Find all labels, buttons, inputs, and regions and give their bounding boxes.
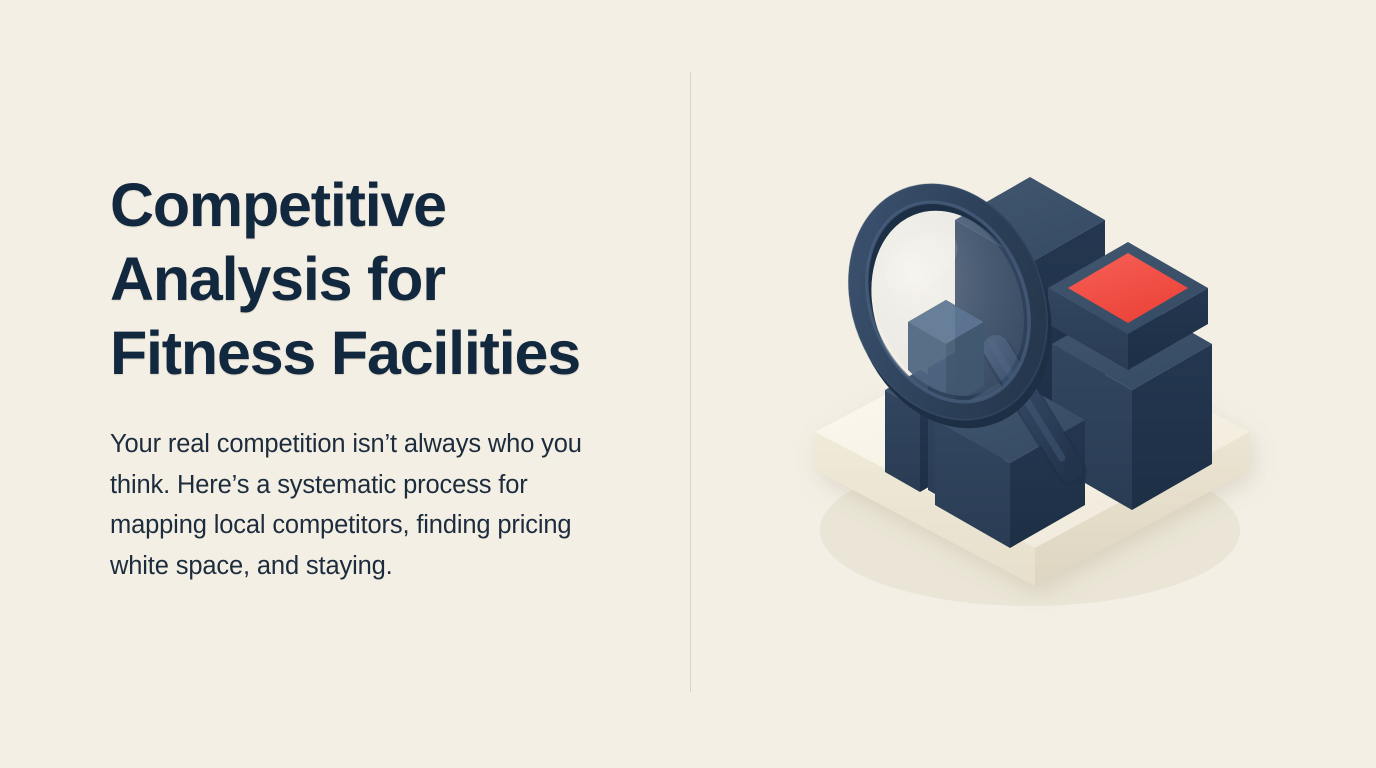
page-subtitle: Your real competition isn’t always who y… <box>110 424 610 586</box>
text-column: Competitive Analysis for Fitness Facilit… <box>110 0 630 768</box>
isometric-scene-svg <box>780 120 1300 640</box>
page-title-line-1: Competitive <box>110 168 650 242</box>
page-title-line-3: Fitness Facilities <box>110 316 650 390</box>
page-title-line-2: Analysis for <box>110 242 650 316</box>
hero-illustration <box>780 120 1300 640</box>
slide-root: Competitive Analysis for Fitness Facilit… <box>0 0 1376 768</box>
vertical-divider <box>690 72 691 692</box>
page-title: Competitive Analysis for Fitness Facilit… <box>110 168 650 390</box>
